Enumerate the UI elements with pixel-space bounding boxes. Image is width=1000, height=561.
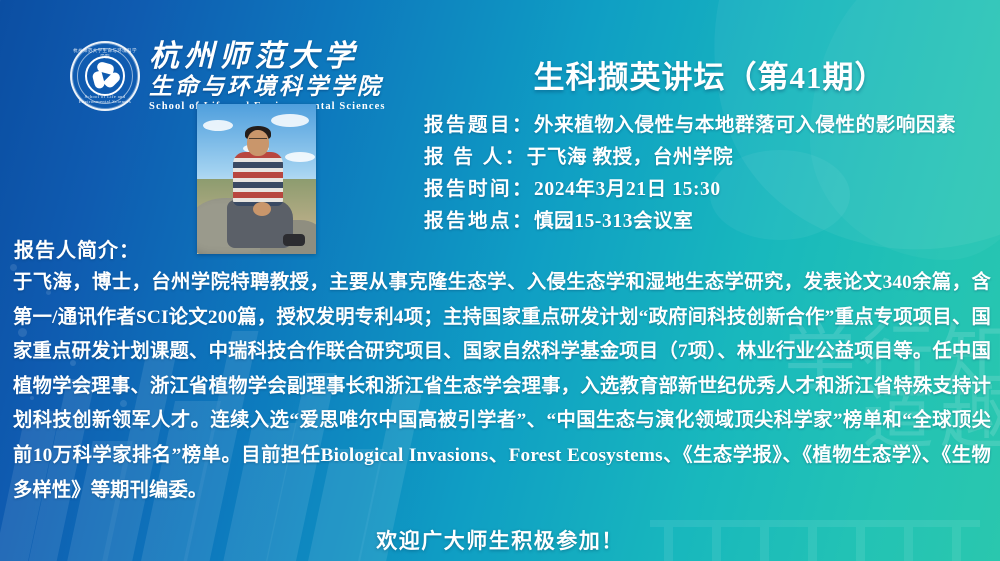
bio-paragraph: 于飞海，博士，台州学院特聘教授，主要从事克隆生态学、入侵生态学和湿地生态学研究，… <box>13 266 991 508</box>
meta-row-topic: 报告题目：外来植物入侵性与本地群落可入侵性的影响因素 <box>424 110 1000 142</box>
meta-row-place: 报告地点：慎园15-313会议室 <box>424 206 1000 238</box>
speaker-label: 报 告 人： <box>424 147 527 168</box>
logo-university-name: 杭州师范大学 <box>149 42 386 72</box>
college-logo: 杭州师范大学生命与环境科学学院 School of Life and Envir… <box>70 40 386 113</box>
topic-label: 报告题目： <box>424 115 534 136</box>
seminar-meta-block: 报告题目：外来植物入侵性与本地群落可入侵性的影响因素 报 告 人：于飞海 教授，… <box>424 110 1000 238</box>
time-value: 2024年3月21日 15:30 <box>534 179 721 200</box>
logo-college-name: 生命与环境科学学院 <box>149 75 386 98</box>
seminar-poster: 学 行 知 道 趣 杭州师范大学生命与环境科学学院 School of Life… <box>0 0 1000 561</box>
time-label: 报告时间： <box>424 179 534 200</box>
speaker-photo <box>197 104 316 254</box>
bio-heading: 报告人简介： <box>14 234 140 263</box>
place-value: 慎园15-313会议室 <box>534 211 693 232</box>
speaker-value: 于飞海 教授，台州学院 <box>527 147 733 168</box>
welcome-note: 欢迎广大师生积极参加！ <box>0 525 1000 555</box>
meta-row-time: 报告时间：2024年3月21日 15:30 <box>424 174 1000 206</box>
place-label: 报告地点： <box>424 211 534 232</box>
poster-title: 生科撷英讲坛（第41期） <box>420 52 1000 97</box>
college-seal-icon: 杭州师范大学生命与环境科学学院 School of Life and Envir… <box>70 41 140 111</box>
topic-value: 外来植物入侵性与本地群落可入侵性的影响因素 <box>534 115 956 136</box>
meta-row-speaker: 报 告 人：于飞海 教授，台州学院 <box>424 142 1000 174</box>
